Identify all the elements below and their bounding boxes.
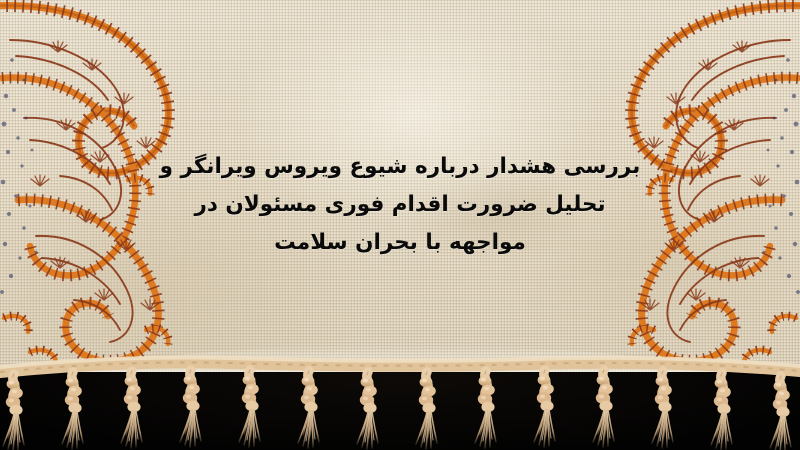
headline-line-2: تحلیل ضرورت اقدام فوری مسئولان در — [0, 186, 800, 224]
dark-backdrop — [0, 372, 800, 450]
banner-canvas: بررسی هشدار درباره شیوع ویروس ویرانگر و … — [0, 0, 800, 450]
headline-block: بررسی هشدار درباره شیوع ویروس ویرانگر و … — [0, 148, 800, 262]
headline-line-1: بررسی هشدار درباره شیوع ویروس ویرانگر و — [0, 148, 800, 186]
headline-line-3: مواجهه با بحران سلامت — [0, 224, 800, 262]
